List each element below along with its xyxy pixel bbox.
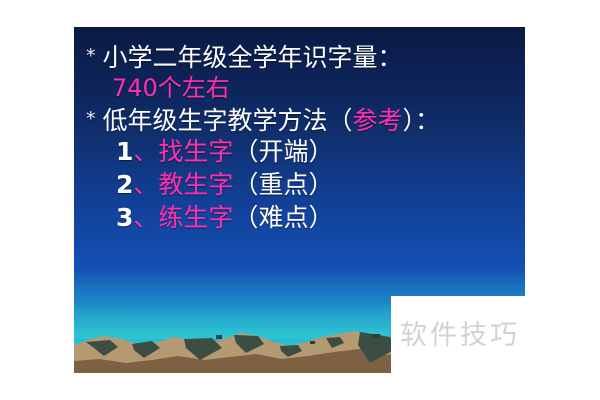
slide-bullet-1-text: 小学二年级全学年识字量： <box>103 43 403 72</box>
list-item-1-number: 1 <box>116 137 133 166</box>
watermark-overlay: 软件技巧 <box>391 296 600 400</box>
list-item-2-topic: 教生字 <box>158 170 233 199</box>
list-item-2-note: （重点） <box>233 170 333 199</box>
list-item-1-note: （开端） <box>233 137 333 166</box>
slide-list-item-1: 1、找生字（开端） <box>116 139 517 164</box>
asterisk-bullet-icon-2: * <box>86 108 96 130</box>
slide-bullet-2-prefix: 低年级生字教学方法（ <box>103 106 353 135</box>
slide-list-item-2: 2、教生字（重点） <box>116 172 517 197</box>
list-item-2-separator: 、 <box>133 170 158 199</box>
slide-subline-count: 740个左右 <box>112 76 517 100</box>
list-item-1-topic: 找生字 <box>158 137 233 166</box>
list-item-3-separator: 、 <box>133 203 158 232</box>
slide-list-item-3: 3、练生字（难点） <box>116 205 517 230</box>
slide-bullet-2-highlight: 参考 <box>353 106 403 135</box>
watermark-label: 软件技巧 <box>400 313 520 352</box>
slide-bullet-2-suffix: ）： <box>403 106 441 135</box>
slide-bullet-line-1: *小学二年级全学年识字量： <box>86 45 517 70</box>
list-item-3-number: 3 <box>116 203 133 232</box>
slide-text-body: *小学二年级全学年识字量： 740个左右 *低年级生字教学方法（参考）： 1、找… <box>86 45 517 238</box>
list-item-3-note: （难点） <box>233 203 333 232</box>
list-item-3-topic: 练生字 <box>158 203 233 232</box>
list-item-1-separator: 、 <box>133 137 158 166</box>
asterisk-bullet-icon: * <box>86 45 96 67</box>
page-canvas: *小学二年级全学年识字量： 740个左右 *低年级生字教学方法（参考）： 1、找… <box>0 0 600 400</box>
slide-bullet-line-2: *低年级生字教学方法（参考）： <box>86 108 517 133</box>
list-item-2-number: 2 <box>116 170 133 199</box>
